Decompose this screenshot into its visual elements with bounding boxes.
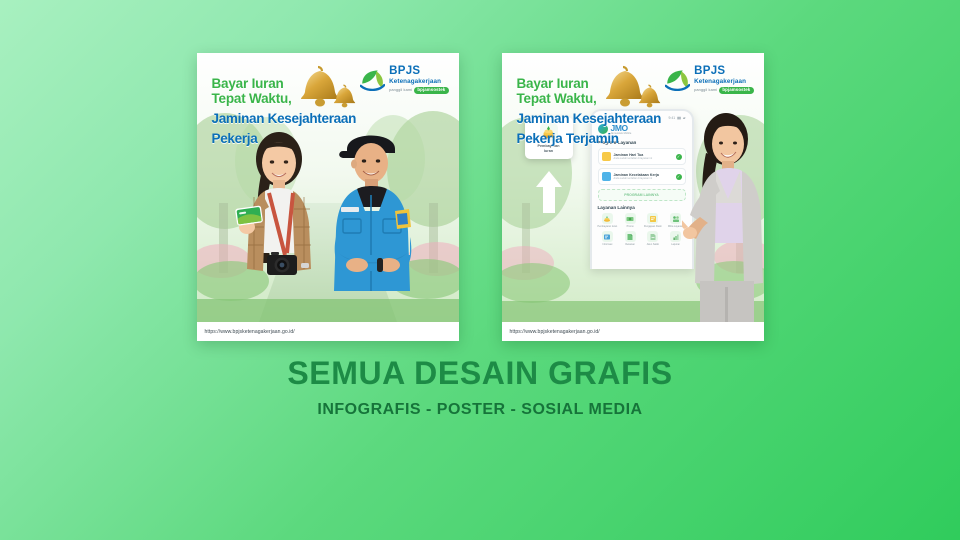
jht-icon [602,152,611,161]
service-row-jht[interactable]: Jaminan Hari Tua Anda sudah terdaftar di… [598,148,686,165]
poster-url-2: https://www.bpjsketenagakerjaan.go.id/ [510,329,600,335]
caption-subtitle: INFOGRAFIS - POSTER - SOSIAL MEDIA [0,401,960,419]
status-time: 9:41 [669,116,676,120]
jkk-icon [602,172,611,181]
caption-main-title: SEMUA DESAIN GRAFIS [0,355,960,392]
bpjs-logo-1: BPJS Ketenagakerjaan panggil kami bpjams… [360,66,448,94]
poster-url-strip-1[interactable]: https://www.bpjsketenagakerjaan.go.id/ [197,322,459,341]
other-service-item[interactable]: Pengajuan Klaim [643,213,663,228]
poster-card-2[interactable]: Bayar Iuran Tepat Waktu, Jaminan Kesejah… [502,53,764,341]
service-desc-jkk: Anda sudah terdaftar di layanan ini [614,177,659,180]
other-service-item[interactable]: Akun Saldo [643,231,663,246]
bpjs-logo-2: BPJS Ketenagakerjaan panggil kami bpjams… [665,66,753,94]
partner-icon [670,213,681,224]
logo-brand-name: BPJS [389,66,448,78]
other-service-label: Pembayaran Iuran [598,226,618,229]
logo-brand-name-2: BPJS [694,66,753,78]
form-icon [647,213,658,224]
logo-brand-subtitle-2: Ketenagakerjaan [694,79,753,85]
poster-canvas-2: Bayar Iuran Tepat Waktu, Jaminan Kesejah… [502,53,764,322]
other-services-grid-row2: Informasi Rekanan Akun Saldo [598,231,686,246]
coins-icon [602,213,613,224]
poster-url-strip-2[interactable]: https://www.bpjsketenagakerjaan.go.id/ [502,322,764,341]
doc-icon [625,231,636,242]
bpjs-leaf-logo-icon [360,69,385,91]
logo-tagline-prefix: panggil kami [389,88,412,92]
logo-tagline-2: panggil kami bpjamsostek [694,87,753,94]
logo-tagline-pill: bpjamsostek [414,87,448,94]
other-service-label: Promo [620,226,640,229]
headline-blue-line2: Pekerja [212,131,357,146]
headline-blue-line1-2: Jaminan Kesejahteraan [517,111,662,126]
logo-tagline: panggil kami bpjamsostek [389,87,448,94]
poster-gallery: Bayar Iuran Tepat Waktu, Jaminan Kesejah… [0,53,960,341]
poster-url-1: https://www.bpjsketenagakerjaan.go.id/ [205,329,295,335]
logo-brand-subtitle: Ketenagakerjaan [389,79,448,85]
headline-blue-line1: Jaminan Kesejahteraan [212,111,357,126]
service-row-jkk[interactable]: Jaminan Kecelakaan Kerja Anda sudah terd… [598,168,686,185]
file-icon [647,231,658,242]
chart-icon [670,231,681,242]
bell-icon [294,63,356,111]
signal-icon: ▮▮ [677,116,681,120]
photo-woman-pointing [682,103,764,322]
section-title-lainnya: Layanan Lainnya [598,205,686,210]
money-icon [625,213,636,224]
logo-tagline-pill-2: bpjamsostek [719,87,753,94]
program-lainnya-button[interactable]: PROGRAM LAINNYA [598,189,686,201]
bpjs-leaf-logo-icon-2 [665,69,690,91]
other-services-grid: Pembayaran Iuran Promo Pengajuan Klaim [598,213,686,228]
poster-card-1[interactable]: Bayar Iuran Tepat Waktu, Jaminan Kesejah… [197,53,459,341]
other-service-label: Rekanan [620,244,640,247]
headline-blue-line2-2: Pekerja Terjamin [517,131,662,146]
logo-tagline-prefix-2: panggil kami [694,88,717,92]
other-service-label: Akun Saldo [643,244,663,247]
poster-canvas-1: Bayar Iuran Tepat Waktu, Jaminan Kesejah… [197,53,459,322]
service-desc-jht: Anda sudah terdaftar di layanan ini [614,157,653,160]
other-service-item[interactable]: Promo [620,213,640,228]
bell-icon-2 [599,63,661,111]
callout-label-line2: Iuran [528,149,570,154]
other-service-item[interactable]: Pembayaran Iuran [598,213,618,228]
arrow-up-icon [535,171,563,213]
other-service-item[interactable]: Informasi [598,231,618,246]
other-service-label: Pengajuan Klaim [643,226,663,229]
caption-block: SEMUA DESAIN GRAFIS INFOGRAFIS - POSTER … [0,355,960,419]
info-icon [602,231,613,242]
other-service-item[interactable]: Rekanan [620,231,640,246]
other-service-label: Informasi [598,244,618,247]
